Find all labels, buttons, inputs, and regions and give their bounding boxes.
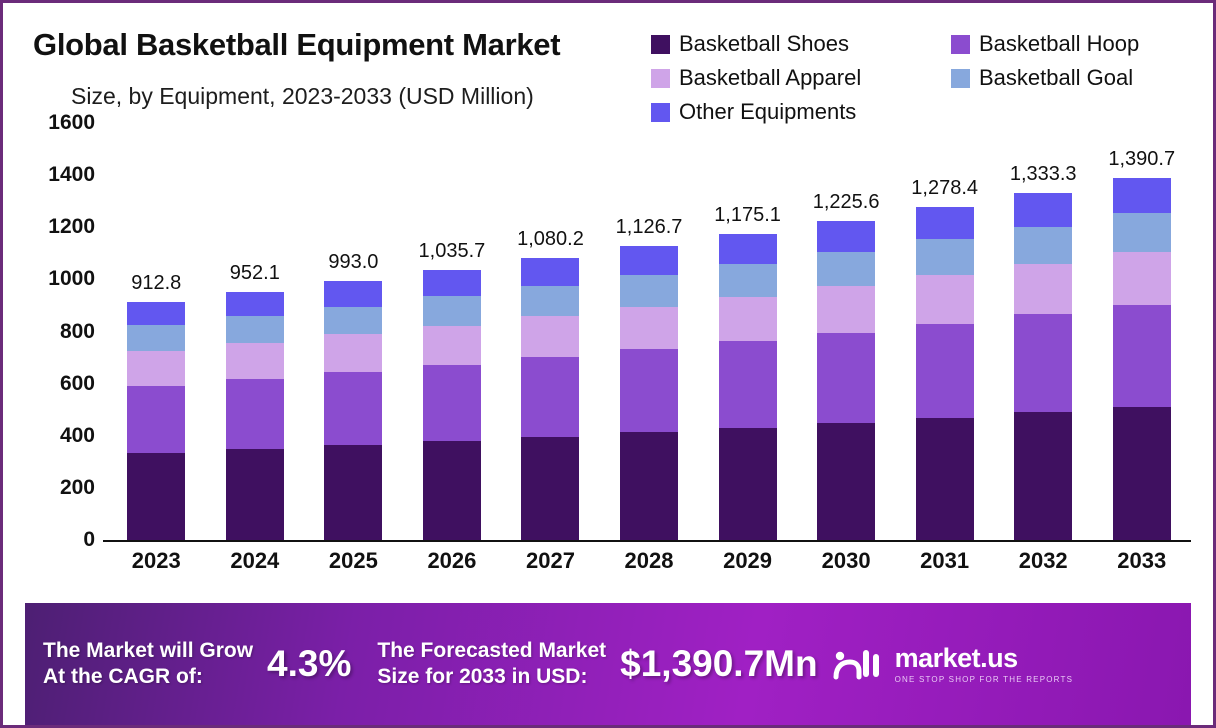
bar-group-2027[interactable]: 1,080.2	[501, 123, 600, 540]
bar-segment-basketball-hoop[interactable]	[620, 349, 678, 432]
bar-stack	[226, 292, 284, 540]
bar-total-label: 1,390.7	[1108, 148, 1175, 171]
y-axis-tick: 1400	[48, 163, 95, 187]
bar-stack	[1113, 178, 1171, 540]
bar-group-2026[interactable]: 1,035.7	[403, 123, 502, 540]
bar-segment-basketball-goal[interactable]	[521, 286, 579, 316]
bar-segment-basketball-shoes[interactable]	[1014, 412, 1072, 540]
y-axis-tick: 400	[60, 424, 95, 448]
bar-segment-basketball-shoes[interactable]	[817, 423, 875, 540]
x-axis-tick-2026: 2026	[403, 548, 502, 574]
bar-segment-basketball-shoes[interactable]	[719, 428, 777, 540]
bar-segment-other-equipments[interactable]	[423, 270, 481, 296]
y-axis-tick: 200	[60, 476, 95, 500]
bar-segment-basketball-goal[interactable]	[1014, 227, 1072, 265]
bar-segment-basketball-hoop[interactable]	[423, 365, 481, 441]
bar-segment-basketball-goal[interactable]	[423, 296, 481, 325]
bar-segment-other-equipments[interactable]	[620, 246, 678, 275]
bar-segment-basketball-shoes[interactable]	[620, 432, 678, 540]
cagr-label-line2: At the CAGR of:	[43, 664, 253, 690]
bar-stack	[1014, 193, 1072, 540]
x-axis-tick-2028: 2028	[600, 548, 699, 574]
bar-segment-basketball-apparel[interactable]	[324, 334, 382, 372]
x-axis-tick-2024: 2024	[206, 548, 305, 574]
forecast-label-line2: Size for 2033 in USD:	[377, 664, 606, 690]
bar-segment-basketball-goal[interactable]	[719, 264, 777, 297]
bar-segment-basketball-shoes[interactable]	[916, 418, 974, 540]
bar-segment-basketball-goal[interactable]	[226, 316, 284, 343]
y-axis: 16001400120010008006004002000	[3, 123, 103, 543]
bar-total-label: 1,333.3	[1010, 163, 1077, 186]
legend-label: Basketball Hoop	[979, 31, 1139, 57]
bar-total-label: 952.1	[230, 262, 280, 285]
bar-segment-basketball-shoes[interactable]	[127, 453, 185, 540]
legend-swatch-icon	[651, 69, 670, 88]
bar-total-label: 1,175.1	[714, 204, 781, 227]
bar-segment-basketball-apparel[interactable]	[1113, 252, 1171, 305]
bar-stack	[521, 258, 579, 540]
bar-total-label: 1,225.6	[813, 191, 880, 214]
bar-total-label: 912.8	[131, 272, 181, 295]
bar-segment-basketball-apparel[interactable]	[916, 275, 974, 323]
bar-segment-basketball-apparel[interactable]	[1014, 264, 1072, 314]
bar-stack	[620, 246, 678, 540]
logo-name: market.us	[895, 645, 1074, 672]
bar-segment-basketball-hoop[interactable]	[1113, 305, 1171, 407]
bar-segment-basketball-shoes[interactable]	[1113, 407, 1171, 540]
bar-segment-other-equipments[interactable]	[719, 234, 777, 264]
bar-segment-basketball-hoop[interactable]	[817, 333, 875, 423]
infographic-card: Global Basketball Equipment Market Size,…	[0, 0, 1216, 728]
x-axis-tick-2032: 2032	[994, 548, 1093, 574]
bar-segment-basketball-goal[interactable]	[1113, 213, 1171, 252]
bar-segment-other-equipments[interactable]	[226, 292, 284, 316]
x-axis-tick-2030: 2030	[797, 548, 896, 574]
legend-item-basketball-shoes[interactable]: Basketball Shoes	[651, 27, 951, 61]
bar-total-label: 1,278.4	[911, 177, 978, 200]
legend-item-basketball-hoop[interactable]: Basketball Hoop	[951, 27, 1139, 61]
y-axis-tick: 0	[83, 528, 95, 552]
legend-item-basketball-goal[interactable]: Basketball Goal	[951, 61, 1133, 95]
bar-segment-basketball-shoes[interactable]	[226, 449, 284, 540]
bar-segment-basketball-hoop[interactable]	[521, 357, 579, 436]
cagr-value: 4.3%	[267, 643, 351, 685]
x-axis-tick-2023: 2023	[107, 548, 206, 574]
bar-segment-basketball-hoop[interactable]	[1014, 314, 1072, 412]
page-subtitle: Size, by Equipment, 2023-2033 (USD Milli…	[71, 83, 534, 110]
bar-group-2031[interactable]: 1,278.4	[895, 123, 994, 540]
y-axis-tick: 800	[60, 320, 95, 344]
y-axis-tick: 600	[60, 372, 95, 396]
bar-segment-other-equipments[interactable]	[817, 221, 875, 252]
bar-stack	[719, 234, 777, 540]
bar-segment-other-equipments[interactable]	[916, 207, 974, 240]
legend-label: Basketball Apparel	[679, 65, 861, 91]
bar-segment-other-equipments[interactable]	[324, 281, 382, 306]
legend-item-basketball-apparel[interactable]: Basketball Apparel	[651, 61, 951, 95]
x-axis-tick-2027: 2027	[501, 548, 600, 574]
bar-segment-basketball-goal[interactable]	[620, 275, 678, 307]
x-axis-tick-2029: 2029	[698, 548, 797, 574]
chart-plot-area: 16001400120010008006004002000 912.8952.1…	[3, 123, 1216, 603]
bar-segment-basketball-apparel[interactable]	[226, 343, 284, 379]
bar-total-label: 993.0	[328, 251, 378, 274]
legend-swatch-icon	[951, 35, 970, 54]
bar-group-2029[interactable]: 1,175.1	[698, 123, 797, 540]
bar-segment-basketball-shoes[interactable]	[324, 445, 382, 540]
y-axis-tick: 1000	[48, 267, 95, 291]
bar-segment-basketball-hoop[interactable]	[719, 341, 777, 427]
cagr-label: The Market will Grow At the CAGR of:	[43, 638, 253, 689]
bar-segment-basketball-shoes[interactable]	[423, 441, 481, 540]
bar-group-2032[interactable]: 1,333.3	[994, 123, 1093, 540]
x-axis-tick-2033: 2033	[1092, 548, 1191, 574]
bar-segment-basketball-hoop[interactable]	[127, 386, 185, 453]
bar-group-2030[interactable]: 1,225.6	[797, 123, 896, 540]
legend-label: Basketball Shoes	[679, 31, 849, 57]
bar-segment-other-equipments[interactable]	[127, 302, 185, 325]
cagr-block: The Market will Grow At the CAGR of: 4.3…	[43, 638, 351, 689]
market-us-logo-text: market.us ONE STOP SHOP FOR THE REPORTS	[895, 645, 1074, 684]
bar-segment-other-equipments[interactable]	[1014, 193, 1072, 227]
bar-group-2024[interactable]: 952.1	[206, 123, 305, 540]
forecast-block: The Forecasted Market Size for 2033 in U…	[377, 638, 817, 689]
cagr-label-line1: The Market will Grow	[43, 638, 253, 664]
bar-total-label: 1,080.2	[517, 228, 584, 251]
bar-group-2025[interactable]: 993.0	[304, 123, 403, 540]
bar-segment-basketball-apparel[interactable]	[817, 286, 875, 332]
bar-group-2023[interactable]: 912.8	[107, 123, 206, 540]
x-axis-line	[103, 540, 1191, 542]
bar-total-label: 1,126.7	[616, 216, 683, 239]
bar-group-2033[interactable]: 1,390.7	[1092, 123, 1191, 540]
bar-group-2028[interactable]: 1,126.7	[600, 123, 699, 540]
forecast-label: The Forecasted Market Size for 2033 in U…	[377, 638, 606, 689]
x-axis-labels: 2023202420252026202720282029203020312032…	[107, 548, 1191, 574]
bar-segment-basketball-goal[interactable]	[324, 307, 382, 335]
legend-label: Other Equipments	[679, 99, 856, 125]
bar-stack	[324, 281, 382, 540]
y-axis-tick: 1200	[48, 215, 95, 239]
bar-segment-basketball-apparel[interactable]	[719, 297, 777, 341]
bar-total-label: 1,035.7	[419, 240, 486, 263]
bar-stack	[817, 221, 875, 540]
footer-banner: The Market will Grow At the CAGR of: 4.3…	[25, 603, 1191, 725]
bar-segment-basketball-goal[interactable]	[916, 239, 974, 275]
bar-segment-basketball-goal[interactable]	[127, 325, 185, 351]
legend-swatch-icon	[951, 69, 970, 88]
bar-segment-basketball-hoop[interactable]	[916, 324, 974, 418]
bar-segment-basketball-apparel[interactable]	[620, 307, 678, 350]
forecast-label-line1: The Forecasted Market	[377, 638, 606, 664]
bar-segment-basketball-goal[interactable]	[817, 252, 875, 287]
bar-segment-basketball-shoes[interactable]	[521, 437, 579, 540]
bar-segment-other-equipments[interactable]	[1113, 178, 1171, 213]
legend-label: Basketball Goal	[979, 65, 1133, 91]
bar-segment-basketball-apparel[interactable]	[423, 326, 481, 365]
bar-segment-basketball-apparel[interactable]	[127, 351, 185, 386]
bar-stack	[423, 270, 481, 540]
bar-segment-basketball-hoop[interactable]	[324, 372, 382, 445]
page-title: Global Basketball Equipment Market	[33, 27, 560, 63]
market-us-logo: market.us ONE STOP SHOP FOR THE REPORTS	[832, 644, 1074, 685]
legend-swatch-icon	[651, 103, 670, 122]
legend-swatch-icon	[651, 35, 670, 54]
bar-stack	[127, 302, 185, 540]
x-axis-tick-2031: 2031	[895, 548, 994, 574]
market-us-logo-mark-icon	[832, 644, 886, 685]
bar-segment-basketball-hoop[interactable]	[226, 379, 284, 449]
forecast-value: $1,390.7Mn	[620, 643, 817, 685]
bar-segment-basketball-apparel[interactable]	[521, 316, 579, 357]
chart-legend: Basketball ShoesBasketball HoopBasketbal…	[651, 27, 1191, 129]
bar-segment-other-equipments[interactable]	[521, 258, 579, 286]
x-axis-tick-2025: 2025	[304, 548, 403, 574]
bar-series-container: 912.8952.1993.01,035.71,080.21,126.71,17…	[107, 123, 1191, 540]
bar-stack	[916, 207, 974, 540]
y-axis-tick: 1600	[48, 111, 95, 135]
logo-tagline: ONE STOP SHOP FOR THE REPORTS	[895, 675, 1074, 684]
